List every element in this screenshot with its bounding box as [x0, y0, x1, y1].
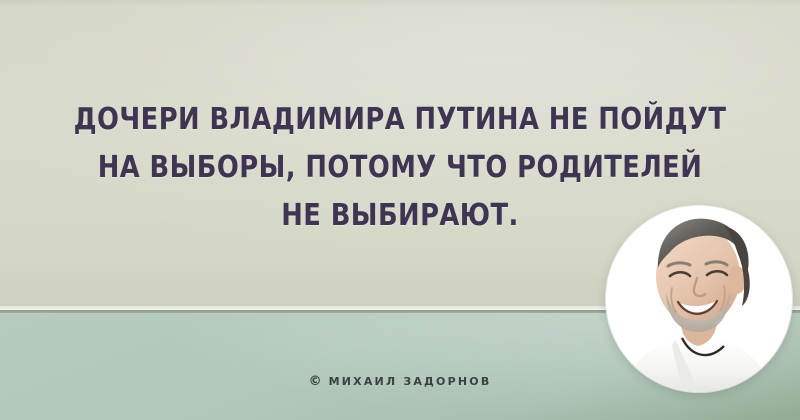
attribution-author: МИХАИЛ ЗАДОРНОВ: [329, 375, 492, 388]
portrait-illustration: [606, 206, 792, 392]
quote-line-1: ДОЧЕРИ ВЛАДИМИРА ПУТИНА НЕ ПОЙДУТ: [56, 96, 744, 144]
portrait-avatar: [606, 206, 792, 392]
quote-card: ДОЧЕРИ ВЛАДИМИРА ПУТИНА НЕ ПОЙДУТ НА ВЫБ…: [0, 0, 800, 420]
quote-line-2: НА ВЫБОРЫ, ПОТОМУ ЧТО РОДИТЕЛЕЙ: [56, 144, 744, 192]
copyright-icon: ©: [309, 374, 323, 389]
